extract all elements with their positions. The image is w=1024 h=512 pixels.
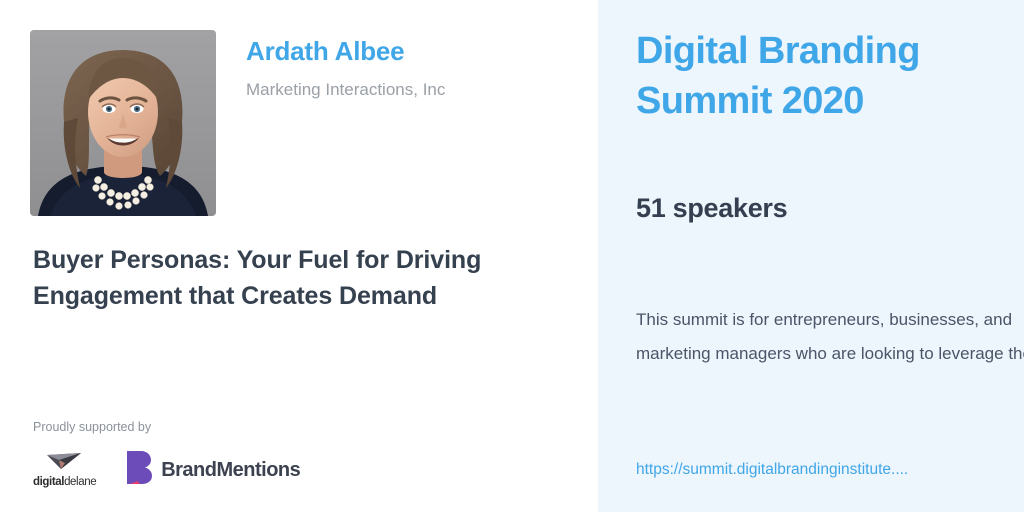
event-speaker-count: 51 speakers bbox=[636, 192, 787, 224]
brandmentions-b-icon bbox=[124, 450, 152, 489]
speaker-promo-card: Ardath Albee Marketing Interactions, Inc… bbox=[0, 0, 1024, 512]
supported-by-label: Proudly supported by bbox=[33, 420, 151, 434]
speaker-name[interactable]: Ardath Albee bbox=[246, 36, 445, 67]
speaker-panel: Ardath Albee Marketing Interactions, Inc… bbox=[0, 0, 598, 512]
sponsor-logos: digitaldelane BrandMentions bbox=[33, 450, 300, 489]
sponsor-digitaldelane-label: digitaldelane bbox=[33, 477, 96, 489]
talk-title: Buyer Personas: Your Fuel for Driving En… bbox=[33, 243, 563, 314]
sponsor-digitaldelane[interactable]: digitaldelane bbox=[33, 451, 96, 489]
sponsor-brandmentions-light: Mentions bbox=[217, 459, 301, 481]
speaker-photo bbox=[30, 30, 216, 216]
sponsor-brandmentions-bold: Brand bbox=[161, 459, 216, 481]
sponsor-digitaldelane-light: delane bbox=[64, 476, 96, 488]
speaker-header: Ardath Albee Marketing Interactions, Inc bbox=[30, 30, 445, 216]
paper-plane-icon bbox=[45, 451, 85, 476]
sponsor-digitaldelane-bold: digital bbox=[33, 476, 64, 488]
event-panel: Digital Branding Summit 2020 51 speakers… bbox=[598, 0, 1024, 512]
speaker-company: Marketing Interactions, Inc bbox=[246, 79, 445, 101]
sponsor-brandmentions[interactable]: BrandMentions bbox=[124, 450, 300, 489]
speaker-meta: Ardath Albee Marketing Interactions, Inc bbox=[246, 30, 445, 101]
event-url-link[interactable]: https://summit.digitalbrandinginstitute.… bbox=[636, 460, 1024, 480]
sponsor-brandmentions-label: BrandMentions bbox=[161, 460, 300, 480]
event-title: Digital Branding Summit 2020 bbox=[636, 26, 966, 126]
event-description: This summit is for entrepreneurs, busine… bbox=[636, 303, 1024, 371]
